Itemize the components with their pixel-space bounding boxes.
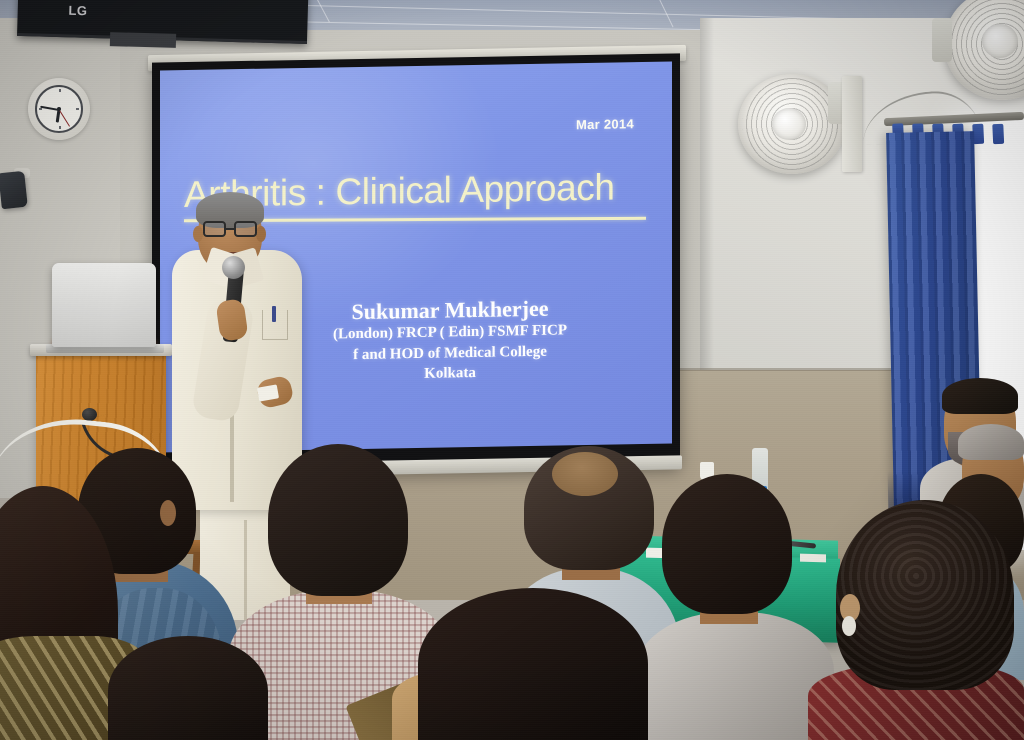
audience-member-8-hair xyxy=(942,378,1018,414)
audience-member-6-scalp xyxy=(552,452,618,496)
slide-presenter-city: Kolkata xyxy=(280,360,620,387)
clock-center-pin xyxy=(57,107,61,111)
audience-member-3-head xyxy=(108,636,268,740)
eyeglasses-lens-left xyxy=(203,221,226,237)
presenter-ear-right xyxy=(256,226,266,242)
slide-presenter-block: Sukumar Mukherjee (London) FRCP ( Edin) … xyxy=(280,294,620,387)
handheld-mic-head xyxy=(222,256,245,279)
tv-wall-mount xyxy=(110,32,176,48)
presenter-trouser-crease xyxy=(244,520,247,620)
audience-member-9-hair xyxy=(958,424,1024,460)
audience-member-11-earring xyxy=(842,616,856,636)
audience-member-7-head xyxy=(662,474,792,614)
eyeglasses-lens-right xyxy=(234,221,257,237)
wall-speaker xyxy=(0,171,28,210)
lecture-hall-photo: LG Mar 2014 Arthritis : Clinical Approac… xyxy=(0,0,1024,740)
audience-member-2-ear xyxy=(160,500,176,526)
clock-second-hand xyxy=(59,109,70,126)
audience-member-4-head xyxy=(268,444,408,596)
audience-member-5-hair xyxy=(418,588,648,740)
presenter-ear-left xyxy=(193,226,203,242)
audience-member-7-body xyxy=(636,612,834,740)
eyeglasses-bridge xyxy=(225,228,235,230)
tv-brand-logo: LG xyxy=(58,1,98,20)
pen-icon xyxy=(272,306,276,322)
slide-date-label: Mar 2014 xyxy=(576,116,634,132)
apple-logo-icon xyxy=(92,293,114,317)
table-paper-right xyxy=(800,554,826,563)
audience-member-11-hair-texture xyxy=(836,500,1014,690)
